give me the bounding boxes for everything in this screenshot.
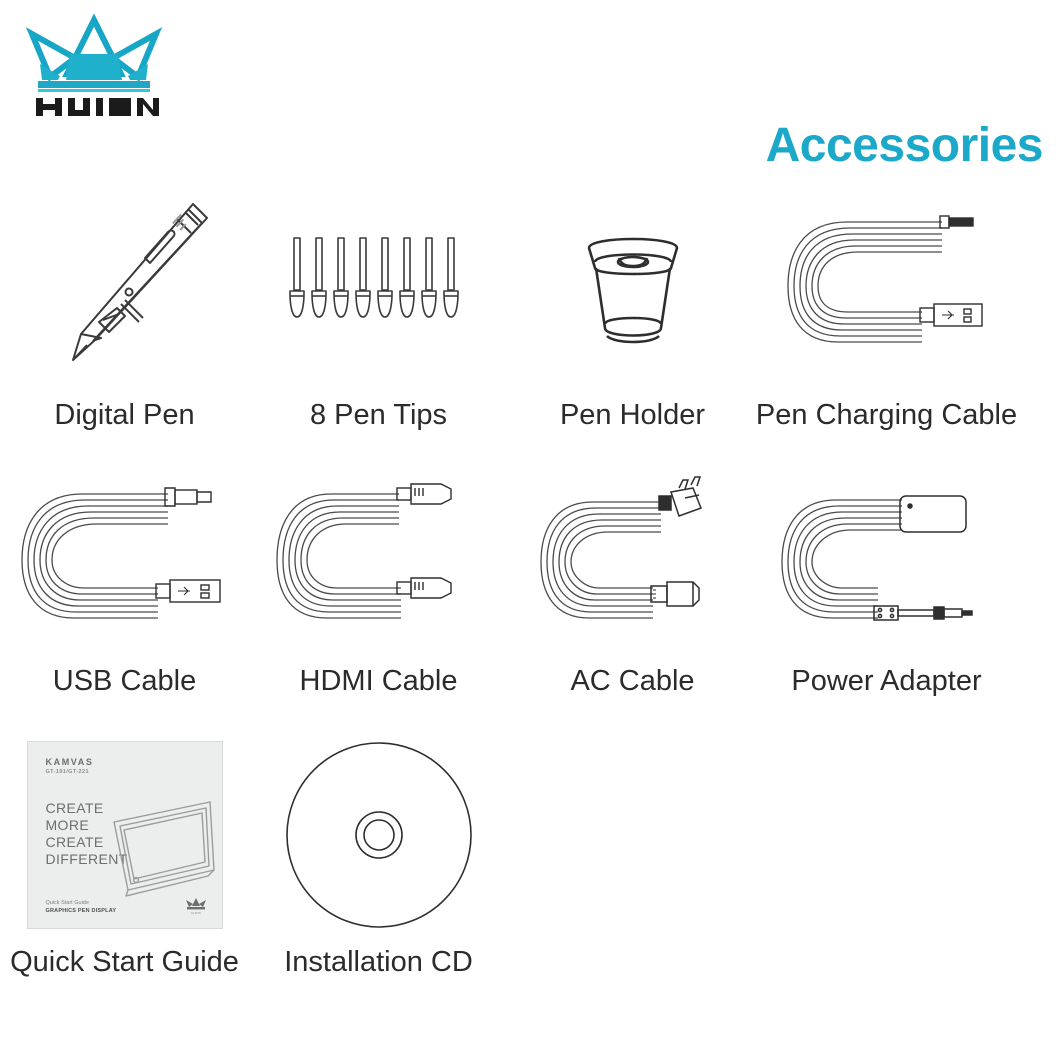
quick-start-guide-icon: KAMVAS GT-191/GT-221 CREATE MORE CREATE … [0, 727, 249, 942]
pen-charging-cable-icon [762, 180, 1011, 395]
accessories-grid: Digital Pen [0, 180, 1059, 1008]
accessory-item-power-adapter[interactable]: Power Adapter [762, 461, 1011, 727]
accessory-label: Pen Charging Cable [756, 401, 1017, 461]
booklet-cover: KAMVAS GT-191/GT-221 CREATE MORE CREATE … [27, 741, 223, 929]
installation-cd-icon [254, 727, 503, 942]
accessory-item-installation-cd[interactable]: Installation CD [254, 727, 503, 1008]
accessory-item-ac-cable[interactable]: AC Cable [508, 461, 757, 727]
booklet-model: GT-191/GT-221 [46, 769, 89, 775]
accessory-item-digital-pen[interactable]: Digital Pen [0, 180, 249, 461]
accessory-label: Pen Holder [560, 401, 705, 461]
accessory-label: Quick Start Guide [10, 948, 239, 1008]
pen-tips-icon [254, 180, 503, 395]
accessory-label: Installation CD [284, 948, 473, 1008]
accessory-label: HDMI Cable [300, 667, 458, 727]
huion-crown-icon: HUION [184, 897, 208, 915]
accessory-item-quick-start-guide[interactable]: KAMVAS GT-191/GT-221 CREATE MORE CREATE … [0, 727, 249, 1008]
accessory-item-usb-cable[interactable]: USB Cable [0, 461, 249, 727]
page-title: Accessories [766, 118, 1043, 173]
accessory-item-pen-charging-cable[interactable]: Pen Charging Cable [762, 180, 1011, 461]
huion-crown-logo [18, 14, 170, 116]
accessory-label: USB Cable [53, 667, 196, 727]
accessory-label: 8 Pen Tips [310, 401, 447, 461]
power-adapter-icon [762, 461, 1011, 661]
usb-cable-icon [0, 461, 249, 661]
accessories-row: USB Cable [0, 461, 1059, 727]
booklet-brand: KAMVAS [46, 757, 94, 767]
accessory-label: Digital Pen [54, 401, 194, 461]
pen-display-illustration [96, 792, 216, 902]
accessory-label: Power Adapter [791, 667, 981, 727]
ac-cable-icon [508, 461, 757, 661]
accessory-item-empty [508, 727, 757, 1008]
booklet-footer-subtitle: GRAPHICS PEN DISPLAY [46, 908, 117, 914]
accessory-item-hdmi-cable[interactable]: HDMI Cable [254, 461, 503, 727]
accessories-row: Digital Pen [0, 180, 1059, 461]
pen-holder-icon [508, 180, 757, 395]
digital-pen-icon [0, 180, 249, 395]
accessory-item-pen-holder[interactable]: Pen Holder [508, 180, 757, 461]
page-header: Accessories [0, 0, 1059, 180]
accessory-item-empty [762, 727, 1011, 1008]
hdmi-cable-icon [254, 461, 503, 661]
booklet-footer-title: Quick Start Guide [46, 900, 89, 906]
accessory-label: AC Cable [570, 667, 694, 727]
svg-text:HUION: HUION [191, 911, 201, 915]
accessories-row: KAMVAS GT-191/GT-221 CREATE MORE CREATE … [0, 727, 1059, 1008]
accessory-item-pen-tips[interactable]: 8 Pen Tips [254, 180, 503, 461]
